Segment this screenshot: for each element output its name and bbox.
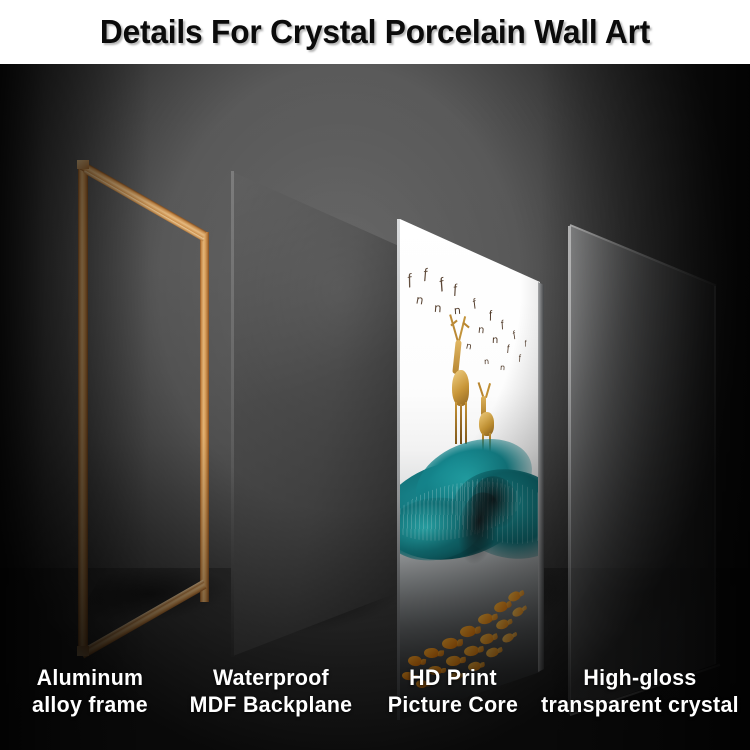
product-detail-image: Details For Crystal Porcelain Wall Art: [0, 0, 750, 750]
mdf-sheen: [233, 164, 399, 664]
caption-line-1: High-gloss: [533, 664, 746, 691]
crystal-sheen: [570, 222, 716, 722]
caption-line-2: MDF Backplane: [179, 691, 363, 718]
caption-line-2: Picture Core: [372, 691, 533, 718]
caption-line-1: HD Print: [372, 664, 533, 691]
frame-rail-top: [80, 162, 207, 240]
artwork-gloss-sheen: [400, 214, 540, 726]
caption-crystal-surface: High-gloss transparent crystal: [533, 664, 746, 718]
caption-line-2: alloy frame: [5, 691, 176, 718]
caption-line-1: Aluminum: [5, 664, 176, 691]
crystal-back-edge: [714, 286, 716, 664]
frame-rail-bottom-highlight: [83, 580, 204, 651]
caption-aluminum-frame: Aluminum alloy frame: [5, 664, 176, 718]
crystal-front-edge: [568, 226, 571, 714]
frame-rail-back-vertical: [200, 232, 209, 602]
caption-line-1: Waterproof: [179, 664, 363, 691]
caption-mdf-backplane: Waterproof MDF Backplane: [179, 664, 363, 718]
caption-picture-core: HD Print Picture Core: [372, 664, 533, 718]
frame-corner-bottom-left: [77, 646, 89, 656]
frame-rail-front-vertical: [78, 162, 88, 654]
scene: ƒ ƒ ƒ ƒ ո ո ո ƒ ƒ ƒ ո ո ƒ ո ƒ ƒ ո ո ƒ: [0, 64, 750, 750]
page-title: Details For Crystal Porcelain Wall Art: [15, 0, 735, 64]
frame-corner-top-left: [77, 160, 89, 169]
frame-rail-bottom: [80, 581, 207, 659]
caption-row: Aluminum alloy frame Waterproof MDF Back…: [0, 664, 750, 750]
picture-core-front-edge: [397, 219, 400, 720]
mdf-front-edge: [231, 171, 234, 657]
picture-core-side-edge: [538, 282, 544, 672]
caption-line-2: transparent crystal: [533, 691, 746, 718]
panel-picture-core: ƒ ƒ ƒ ƒ ո ո ո ƒ ƒ ƒ ո ո ƒ ո ƒ ƒ ո ո ƒ: [400, 214, 540, 726]
title-banner: Details For Crystal Porcelain Wall Art: [0, 0, 750, 64]
frame-rail-top-highlight: [83, 170, 204, 241]
